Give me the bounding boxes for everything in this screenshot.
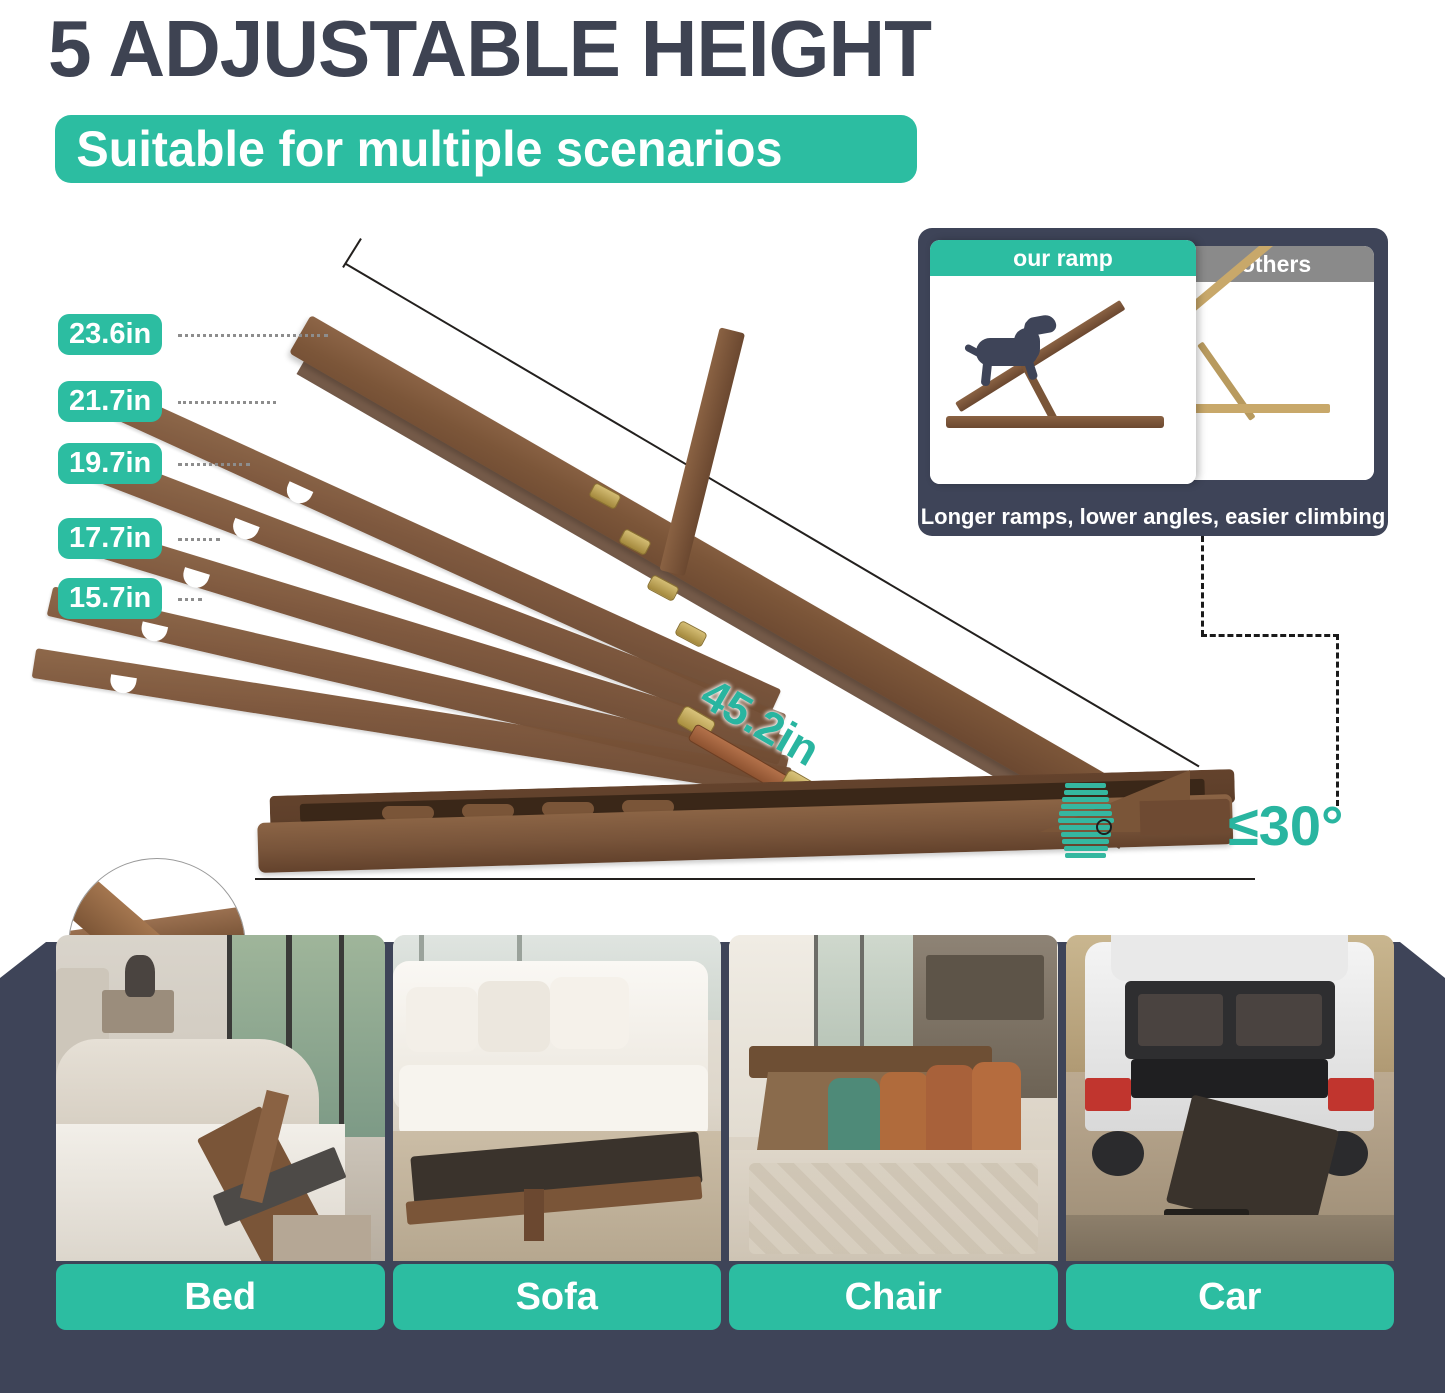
scenario-card-sofa[interactable]: Sofa [393,935,722,1330]
scenario-card-bed[interactable]: Bed [56,935,385,1330]
comparison-card: others our ramp [918,228,1388,536]
scenario-label-car: Car [1066,1264,1395,1330]
height-label-5: 15.7in [58,578,162,619]
comparison-panel-ours: our ramp [930,240,1196,484]
scenario-card-chair[interactable]: Chair [729,935,1058,1330]
scenario-photo-sofa [393,935,722,1261]
leader-line-1 [178,334,328,337]
infographic-root: 5 ADJUSTABLE HEIGHT Suitable for multipl… [0,0,1445,1393]
scenario-cards: Bed Sofa [56,935,1394,1330]
subtitle-text: Suitable for multiple scenarios [55,124,782,174]
leader-line-3 [178,463,250,466]
height-label-2: 21.7in [58,381,162,422]
leader-line-4 [178,538,220,541]
ours-ramp-base [946,416,1164,428]
scenario-photo-car [1066,935,1395,1261]
height-label-1: 23.6in [58,314,162,355]
comparison-caption: Longer ramps, lower angles, easier climb… [918,504,1388,530]
pivot-point-marker [1096,819,1112,835]
comparison-ours-header: our ramp [930,240,1196,276]
connector-dash-vertical-1 [1201,536,1204,636]
scenario-label-sofa: Sofa [393,1264,722,1330]
comparison-ours-image [930,276,1196,484]
scenario-card-car[interactable]: Car [1066,935,1395,1330]
ramp-foot-tip [1140,799,1231,835]
angle-label: ≤30° [1228,798,1343,854]
adjustment-notches-marker [1058,783,1122,859]
scenario-photo-chair [729,935,1058,1261]
leader-line-2 [178,401,276,404]
support-leg [659,327,745,576]
page-title: 5 ADJUSTABLE HEIGHT [48,2,931,96]
height-label-3: 19.7in [58,443,162,484]
floor-reference-line [255,878,1255,880]
scenario-label-bed: Bed [56,1264,385,1330]
leader-line-5 [178,598,202,601]
connector-dash-horizontal [1201,634,1339,637]
scenario-label-chair: Chair [729,1264,1058,1330]
scenario-photo-bed [56,935,385,1261]
connector-dash-vertical-2 [1336,634,1339,806]
subtitle-pill: Suitable for multiple scenarios [55,115,917,183]
height-label-4: 17.7in [58,518,162,559]
